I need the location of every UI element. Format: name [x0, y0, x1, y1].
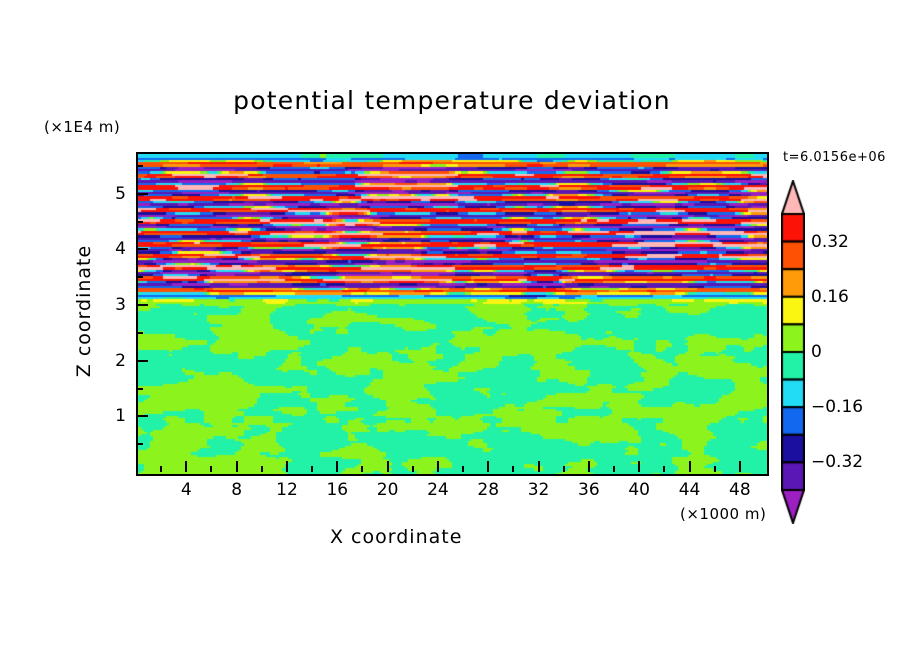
x-tick-major	[286, 461, 288, 472]
x-tick-minor	[361, 466, 363, 472]
x-tick-label: 40	[628, 480, 650, 500]
colorbar-gradient	[781, 180, 805, 524]
x-tick-minor	[210, 466, 212, 472]
colorbar-tick-label: 0.16	[811, 287, 849, 307]
colorbar-tick-label: −0.32	[811, 452, 863, 472]
page-title: potential temperature deviation	[0, 86, 904, 115]
x-tick-minor	[311, 466, 313, 472]
y-tick-major	[137, 304, 148, 306]
y-tick-label: 4	[94, 239, 126, 259]
contour-field	[138, 154, 767, 474]
x-tick-major	[739, 461, 741, 472]
x-tick-label: 8	[231, 480, 242, 500]
x-tick-minor	[663, 466, 665, 472]
y-axis-unit-label: (×1E4 m)	[44, 118, 120, 136]
y-tick-minor	[137, 443, 143, 445]
y-tick-label: 2	[94, 351, 126, 371]
y-tick-minor	[137, 388, 143, 390]
x-tick-major	[336, 461, 338, 472]
y-tick-minor	[137, 332, 143, 334]
y-tick-major	[137, 248, 148, 250]
y-tick-label: 1	[94, 406, 126, 426]
x-tick-label: 16	[326, 480, 348, 500]
y-tick-minor	[137, 276, 143, 278]
y-tick-minor	[137, 165, 143, 167]
plot-area	[136, 152, 769, 476]
x-tick-minor	[613, 466, 615, 472]
time-annotation: t=6.0156e+06	[783, 150, 886, 165]
x-tick-label: 12	[276, 480, 298, 500]
x-tick-minor	[714, 466, 716, 472]
x-axis-unit-label: (×1000 m)	[680, 505, 766, 523]
x-tick-major	[236, 461, 238, 472]
x-tick-major	[638, 461, 640, 472]
y-tick-minor	[137, 221, 143, 223]
colorbar-tick-label: −0.16	[811, 397, 863, 417]
x-tick-major	[487, 461, 489, 472]
x-tick-label: 32	[528, 480, 550, 500]
y-tick-label: 5	[94, 184, 126, 204]
y-tick-major	[137, 360, 148, 362]
x-tick-minor	[563, 466, 565, 472]
x-tick-major	[689, 461, 691, 472]
x-tick-major	[538, 461, 540, 472]
x-tick-label: 36	[578, 480, 600, 500]
x-tick-major	[437, 461, 439, 472]
x-tick-minor	[462, 466, 464, 472]
x-tick-label: 24	[427, 480, 449, 500]
x-tick-label: 4	[181, 480, 192, 500]
y-tick-label: 3	[94, 295, 126, 315]
x-axis-label: X coordinate	[330, 526, 462, 548]
x-tick-major	[588, 461, 590, 472]
y-tick-major	[137, 193, 148, 195]
figure-canvas: potential temperature deviation (×1E4 m)…	[0, 0, 904, 654]
y-axis-label: Z coordinate	[73, 221, 95, 401]
x-tick-label: 20	[377, 480, 399, 500]
x-tick-label: 28	[477, 480, 499, 500]
x-tick-minor	[261, 466, 263, 472]
x-tick-label: 48	[729, 480, 751, 500]
x-tick-major	[387, 461, 389, 472]
x-tick-major	[185, 461, 187, 472]
x-tick-label: 44	[679, 480, 701, 500]
colorbar[interactable]: 0.320.160−0.16−0.32	[781, 180, 805, 524]
x-tick-minor	[512, 466, 514, 472]
x-tick-minor	[412, 466, 414, 472]
colorbar-tick-label: 0	[811, 342, 822, 362]
y-tick-major	[137, 415, 148, 417]
x-tick-minor	[160, 466, 162, 472]
colorbar-tick-label: 0.32	[811, 232, 849, 252]
